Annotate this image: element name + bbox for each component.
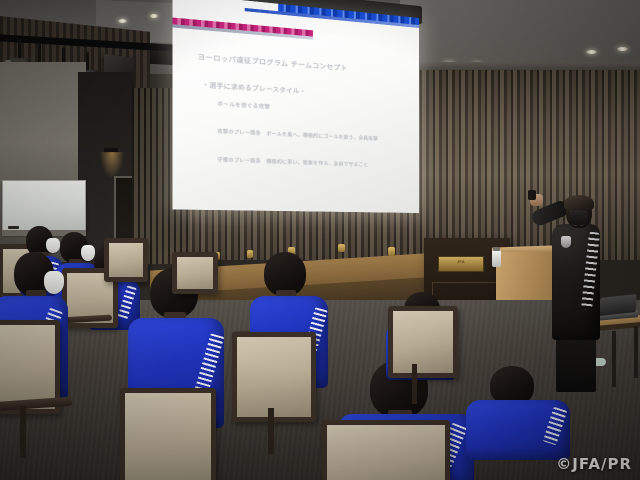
projection-screen: ヨーロッパ遠征プログラム チームコンセプト ・選手に求めるプレースタイル・ ボー… (173, 0, 419, 223)
slide-subtitle: ・選手に求めるプレースタイル・ (202, 79, 306, 95)
hand-sanitizer-cap (493, 247, 500, 251)
wall-lamp-glow (100, 152, 124, 178)
ceiling-right-section (400, 0, 640, 66)
chair (120, 388, 216, 480)
watermark: ©JFA/PR (556, 455, 632, 473)
slide-title: ヨーロッパ遠征プログラム チームコンセプト (197, 51, 347, 73)
downlight-icon (586, 50, 597, 54)
stage-ornament (388, 247, 395, 256)
hand-sanitizer-bottle (492, 250, 501, 267)
presenter-hair (564, 195, 594, 211)
podium-plaque: JFA (438, 256, 484, 272)
podium-plaque-text: JFA (439, 259, 483, 264)
downlight-icon (118, 19, 127, 23)
chair (388, 306, 458, 378)
player-face-mask (81, 245, 95, 261)
player-face-mask (46, 238, 60, 253)
screen-surface: ヨーロッパ遠征プログラム チームコンセプト ・選手に求めるプレースタイル・ ボー… (173, 0, 419, 213)
downlight-icon (617, 47, 628, 51)
downlight-icon (150, 14, 158, 18)
photo-scene: ヨーロッパ遠征プログラム チームコンセプト ・選手に求めるプレースタイル・ ボー… (0, 0, 640, 480)
chair-leg (412, 364, 417, 404)
chair (104, 238, 148, 282)
stage-ornament (338, 244, 345, 252)
stage-ornament (247, 250, 253, 258)
slide-bullet-2: 守備のプレー箇条 積極的に奉い、密集を作る、全員で守ること (217, 157, 368, 169)
chair-leg (268, 408, 274, 454)
slide-bullet-1: 攻撃のプレー箇条 ボールを奥へ、積極的にゴールを狙う、全員攻撃 (217, 128, 378, 142)
presenter-face-mask (569, 210, 588, 226)
presentation-remote-icon (528, 190, 536, 200)
table-leg (612, 331, 616, 387)
whiteboard-marker (8, 226, 19, 229)
slide-bullet-0: ボールを奈ぐる攻撃 (217, 100, 270, 111)
chair (172, 252, 218, 294)
chair-leg (20, 406, 26, 458)
player-face-mask (44, 271, 64, 294)
team-crest-icon (561, 236, 571, 248)
chair (232, 332, 316, 422)
chair (322, 420, 450, 480)
table-leg (634, 326, 638, 378)
